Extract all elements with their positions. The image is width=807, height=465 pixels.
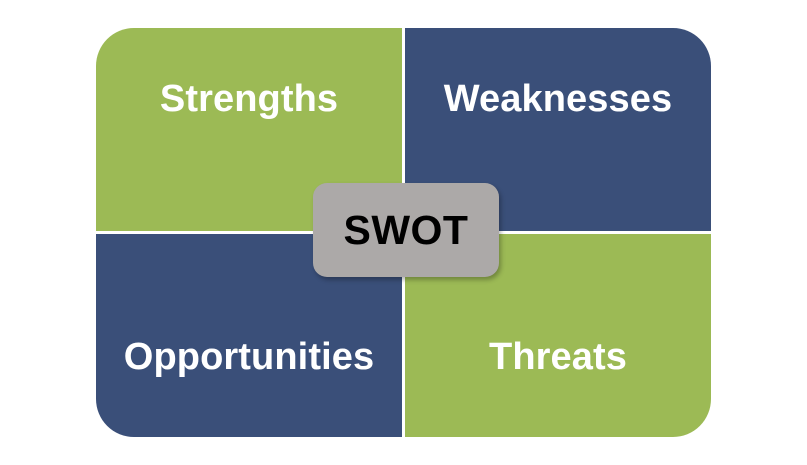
- quadrant-label-opportunities: Opportunities: [124, 338, 374, 437]
- quadrant-label-strengths: Strengths: [160, 80, 338, 231]
- swot-diagram: Strengths Weaknesses Opportunities Threa…: [96, 28, 711, 437]
- quadrant-label-threats: Threats: [489, 338, 627, 437]
- swot-center-badge[interactable]: SWOT: [313, 183, 499, 277]
- swot-center-label: SWOT: [344, 210, 469, 251]
